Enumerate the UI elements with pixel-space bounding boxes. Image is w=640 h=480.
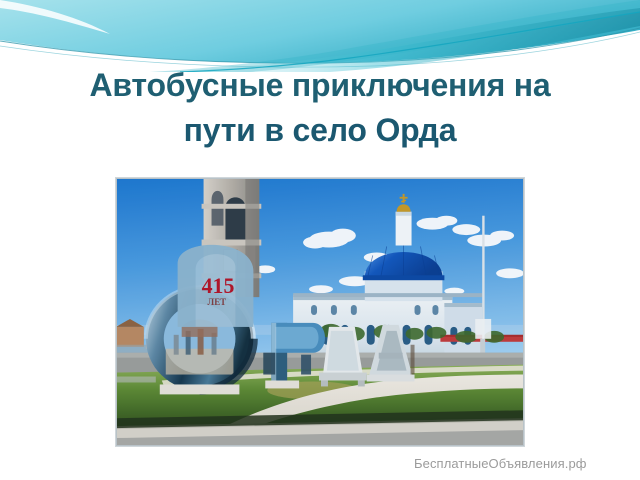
wave-teal-ribbon-2 bbox=[150, 0, 640, 72]
title-line-2: пути в село Орда bbox=[18, 108, 622, 153]
photo-tone bbox=[116, 178, 524, 446]
wave-hairline-2 bbox=[0, 32, 640, 67]
watermark-text: БесплатныеОбъявления.рф bbox=[414, 456, 587, 471]
photo-illustration: 415 ЛЕТ bbox=[116, 178, 524, 446]
page-title: Автобусные приключения на пути в село Ор… bbox=[18, 63, 622, 153]
slide-photo: 415 ЛЕТ bbox=[115, 177, 525, 447]
presentation-slide: Автобусные приключения на пути в село Ор… bbox=[0, 0, 640, 480]
wave-corner-accent bbox=[0, 0, 110, 34]
decorative-wave-band bbox=[0, 0, 640, 72]
title-line-1: Автобусные приключения на bbox=[18, 63, 622, 108]
wave-hairline-1 bbox=[0, 28, 640, 63]
wave-graphic bbox=[0, 0, 640, 72]
